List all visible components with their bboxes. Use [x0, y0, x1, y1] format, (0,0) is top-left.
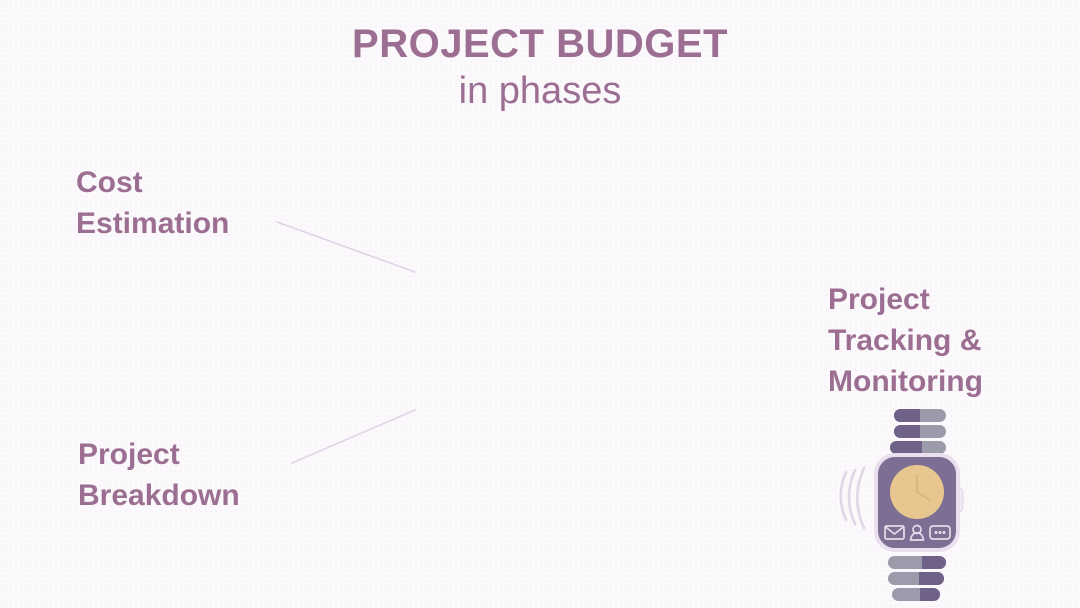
smartwatch-illustration: [826, 400, 1006, 608]
phase-label-cost-estimation: Cost Estimation: [76, 163, 229, 245]
signal-wave-1: [841, 472, 846, 520]
strap-segment-top-2-purple: [894, 425, 920, 438]
strap-segment-top-3-purple: [890, 441, 922, 454]
watch-face: [890, 465, 944, 519]
signal-waves-icon: [841, 468, 864, 528]
phase-label-project-breakdown: Project Breakdown: [78, 435, 240, 517]
title-subtitle: in phases: [0, 72, 1080, 110]
signal-wave-3: [857, 468, 864, 528]
title-main: PROJECT BUDGET: [0, 24, 1080, 64]
strap-segment-bottom-2-purple: [919, 572, 944, 585]
project-breakdown-connector: [292, 410, 415, 463]
strap-segment-bottom-1-purple: [922, 556, 946, 569]
strap-segment-top-1-purple: [894, 409, 920, 422]
watch-strap-bottom: [888, 556, 946, 601]
strap-segment-bottom-3-purple: [920, 588, 940, 601]
page-title: PROJECT BUDGET in phases: [0, 24, 1080, 110]
cost-estimation-connector: [277, 222, 415, 272]
watch-strap-top: [890, 409, 946, 454]
phase-label-tracking-monitoring: Project Tracking & Monitoring: [828, 280, 983, 402]
signal-wave-2: [849, 470, 855, 524]
